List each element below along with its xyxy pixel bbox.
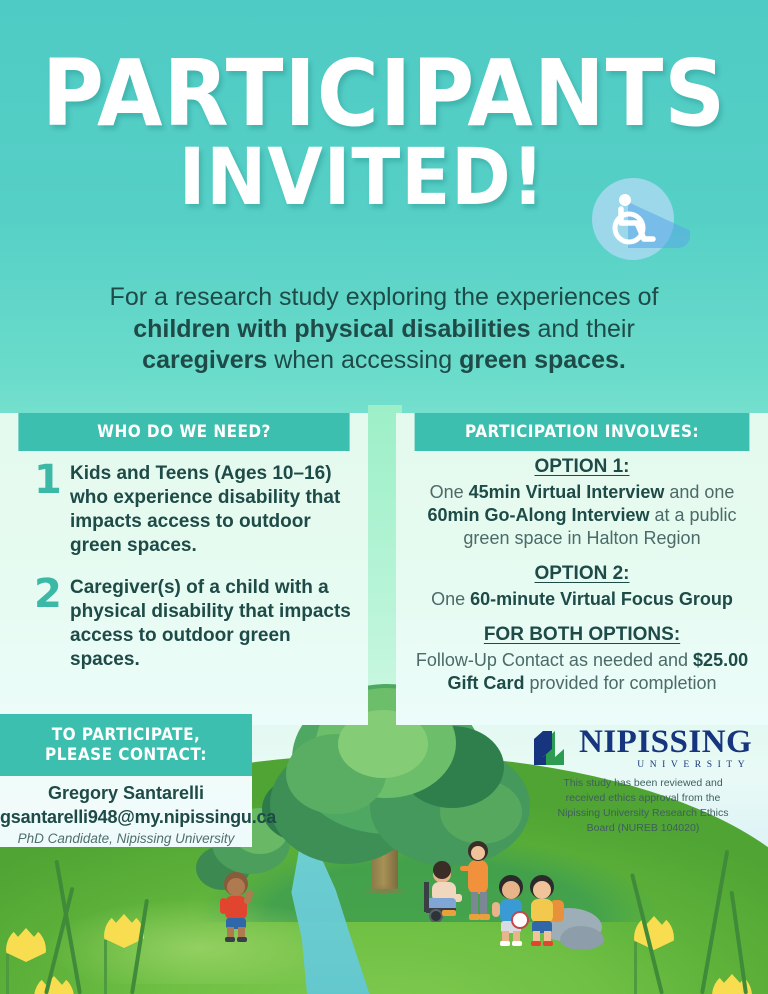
ethics-approval-statement: This study has been reviewed and receive… [532,776,754,836]
list-item-label: Caregiver(s) of a child with a physical … [70,576,354,672]
both-options-body: Follow-Up Contact as needed and $25.00 G… [404,649,760,695]
wheelchair-accessible-icon [592,178,674,260]
to-participate-line-2: PLEASE CONTACT: [13,745,240,765]
ethics-line-2: received ethics approval from the [532,791,754,806]
recruitment-poster: PARTICIPANTS INVITED! For a research stu… [0,0,768,994]
who-do-we-need-band: WHO DO WE NEED? [18,413,349,451]
nipissing-mark-icon [532,729,572,767]
child-with-backpack-illustration [520,872,572,950]
nipissing-wordmark: NIPISSING [579,726,752,759]
child-waving-illustration [212,868,262,944]
option-1-bold-45min: 45min Virtual Interview [469,482,665,502]
lede-line-3: caregivers when accessing green spaces. [34,345,734,377]
institution-block: NIPISSING UNIVERSITY This study has been… [532,726,754,836]
option-2-bold-focus-group: 60-minute Virtual Focus Group [470,589,733,609]
option-2-heading: OPTION 2: [404,563,760,585]
list-item: 1 Kids and Teens (Ages 10–16) who experi… [34,462,354,558]
ethics-line-1: This study has been reviewed and [532,776,754,791]
contact-details: Gregory Santarelli gsantarelli948@my.nip… [0,782,252,849]
who-do-we-need-list: 1 Kids and Teens (Ages 10–16) who experi… [34,462,354,690]
nipissing-wordmark-sub: UNIVERSITY [579,760,752,770]
list-item-number: 1 [34,462,56,558]
nipissing-university-logo: NIPISSING UNIVERSITY [532,726,754,770]
lede-line2-rest: and their [531,315,635,343]
option-1-bold-60min: 60min Go-Along Interview [427,505,649,525]
both-options-post: provided for completion [524,673,716,693]
lede-bold-children: children with physical disabilities [133,315,530,343]
contact-email[interactable]: gsantarelli948@my.nipissingu.ca [0,805,252,829]
lede-line3-mid: when accessing [267,346,459,374]
both-options-heading: FOR BOTH OPTIONS: [404,624,760,646]
to-participate-band: TO PARTICIPATE, PLEASE CONTACT: [0,714,252,776]
list-item-label: Kids and Teens (Ages 10–16) who experien… [70,462,354,558]
participation-involves-content: OPTION 1: One 45min Virtual Interview an… [404,456,760,695]
option-1-mid: and one [664,482,734,502]
lede-line-1: For a research study exploring the exper… [34,282,734,314]
contact-role: PhD Candidate, Nipissing University [0,830,252,849]
option-1-body: One 45min Virtual Interview and one 60mi… [404,481,760,550]
title-line-1: PARTICIPANTS [31,52,738,137]
option-2-body: One 60-minute Virtual Focus Group [404,588,760,611]
lede-bold-caregivers: caregivers [142,346,267,374]
ethics-line-4: Board (NUREB 104020) [532,821,754,836]
contact-name: Gregory Santarelli [0,782,252,805]
lede-line-2: children with physical disabilities and … [34,314,734,346]
option-1-heading: OPTION 1: [404,456,760,478]
lede-bold-greenspaces: green spaces. [459,346,626,374]
option-1-pre: One [430,482,469,502]
option-2-pre: One [431,589,470,609]
participation-involves-band: PARTICIPATION INVOLVES: [415,413,750,451]
ethics-line-3: Nipissing University Research Ethics [532,806,754,821]
list-item: 2 Caregiver(s) of a child with a physica… [34,576,354,672]
both-options-pre: Follow-Up Contact as needed and [416,650,693,670]
poster-lede: For a research study exploring the exper… [34,282,734,377]
list-item-number: 2 [34,576,56,672]
to-participate-line-1: TO PARTICIPATE, [13,725,240,745]
